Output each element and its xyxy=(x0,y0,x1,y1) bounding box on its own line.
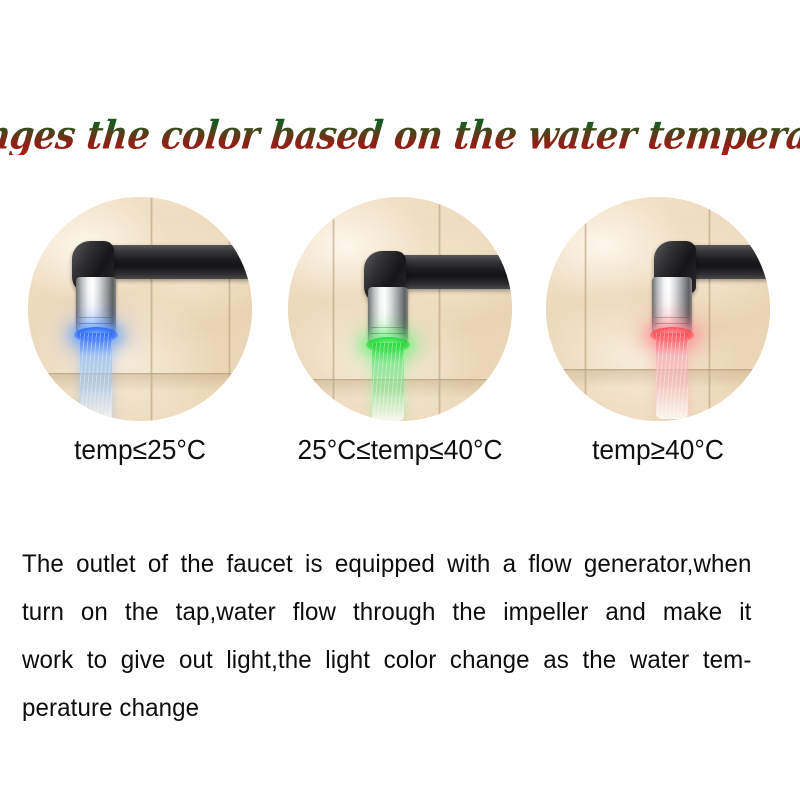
water-stream-green xyxy=(372,343,404,421)
description-word: tap,water xyxy=(176,588,276,636)
caption-temp-low: temp≤25°C xyxy=(35,434,246,466)
description-word: equipped xyxy=(335,540,435,588)
description-word: light,the xyxy=(226,636,311,684)
description-word: give xyxy=(121,636,166,684)
description-word: a xyxy=(503,540,517,588)
headline-banner: Changes the color based on the water tem… xyxy=(0,104,800,166)
description-word: work xyxy=(22,636,73,684)
description-line-4: perature change xyxy=(22,684,757,732)
description-word: with xyxy=(447,540,490,588)
counter-ledge-shadow xyxy=(28,376,252,392)
description-word: as xyxy=(543,636,569,684)
description-word: the xyxy=(180,540,214,588)
chrome-aerator xyxy=(652,277,692,333)
description-line-3: worktogiveoutlight,thelightcolorchangeas… xyxy=(22,636,752,684)
photo-green-led-faucet xyxy=(288,197,512,421)
description-word: color xyxy=(384,636,437,684)
description-word: of xyxy=(148,540,168,588)
description-line-1: Theoutletofthefaucetisequippedwithaflowg… xyxy=(22,540,752,588)
description-line-2: turnonthetap,waterflowthroughtheimpeller… xyxy=(22,588,752,636)
caption-temp-mid: 25°C≤temp≤40°C xyxy=(276,434,524,466)
description-word: through xyxy=(353,588,436,636)
description-word: flow xyxy=(293,588,336,636)
description-word: change xyxy=(450,636,530,684)
photo-red-led-faucet xyxy=(546,197,770,421)
photo-blue-led-faucet xyxy=(28,197,252,421)
description-word: the xyxy=(452,588,486,636)
photo-caption-row: temp≤25°C 25°C≤temp≤40°C temp≥40°C xyxy=(0,434,800,472)
description-word: the xyxy=(125,588,159,636)
description-word: light xyxy=(325,636,370,684)
description-word: generator,when xyxy=(584,540,752,588)
description-word: it xyxy=(739,588,751,636)
description-word: make xyxy=(663,588,722,636)
page-title: Changes the color based on the water tem… xyxy=(0,115,800,154)
description-word: out xyxy=(179,636,213,684)
description-word: on xyxy=(81,588,108,636)
description-word: and xyxy=(605,588,646,636)
chrome-aerator xyxy=(368,287,408,343)
description-paragraph: Theoutletofthefaucetisequippedwithaflowg… xyxy=(22,540,784,732)
description-word: The xyxy=(22,540,64,588)
description-word: tem- xyxy=(703,636,752,684)
product-photo-row xyxy=(0,197,800,421)
water-stream-red xyxy=(656,333,688,419)
description-word: turn xyxy=(22,588,64,636)
description-word: to xyxy=(87,636,107,684)
description-word: faucet xyxy=(226,540,292,588)
water-stream-blue xyxy=(80,333,112,421)
description-word: the xyxy=(582,636,616,684)
description-word: flow xyxy=(528,540,571,588)
description-word: impeller xyxy=(503,588,588,636)
description-word: water xyxy=(630,636,689,684)
caption-temp-high: temp≥40°C xyxy=(553,434,764,466)
chrome-aerator xyxy=(76,277,116,333)
description-word: outlet xyxy=(76,540,136,588)
description-word: is xyxy=(305,540,323,588)
